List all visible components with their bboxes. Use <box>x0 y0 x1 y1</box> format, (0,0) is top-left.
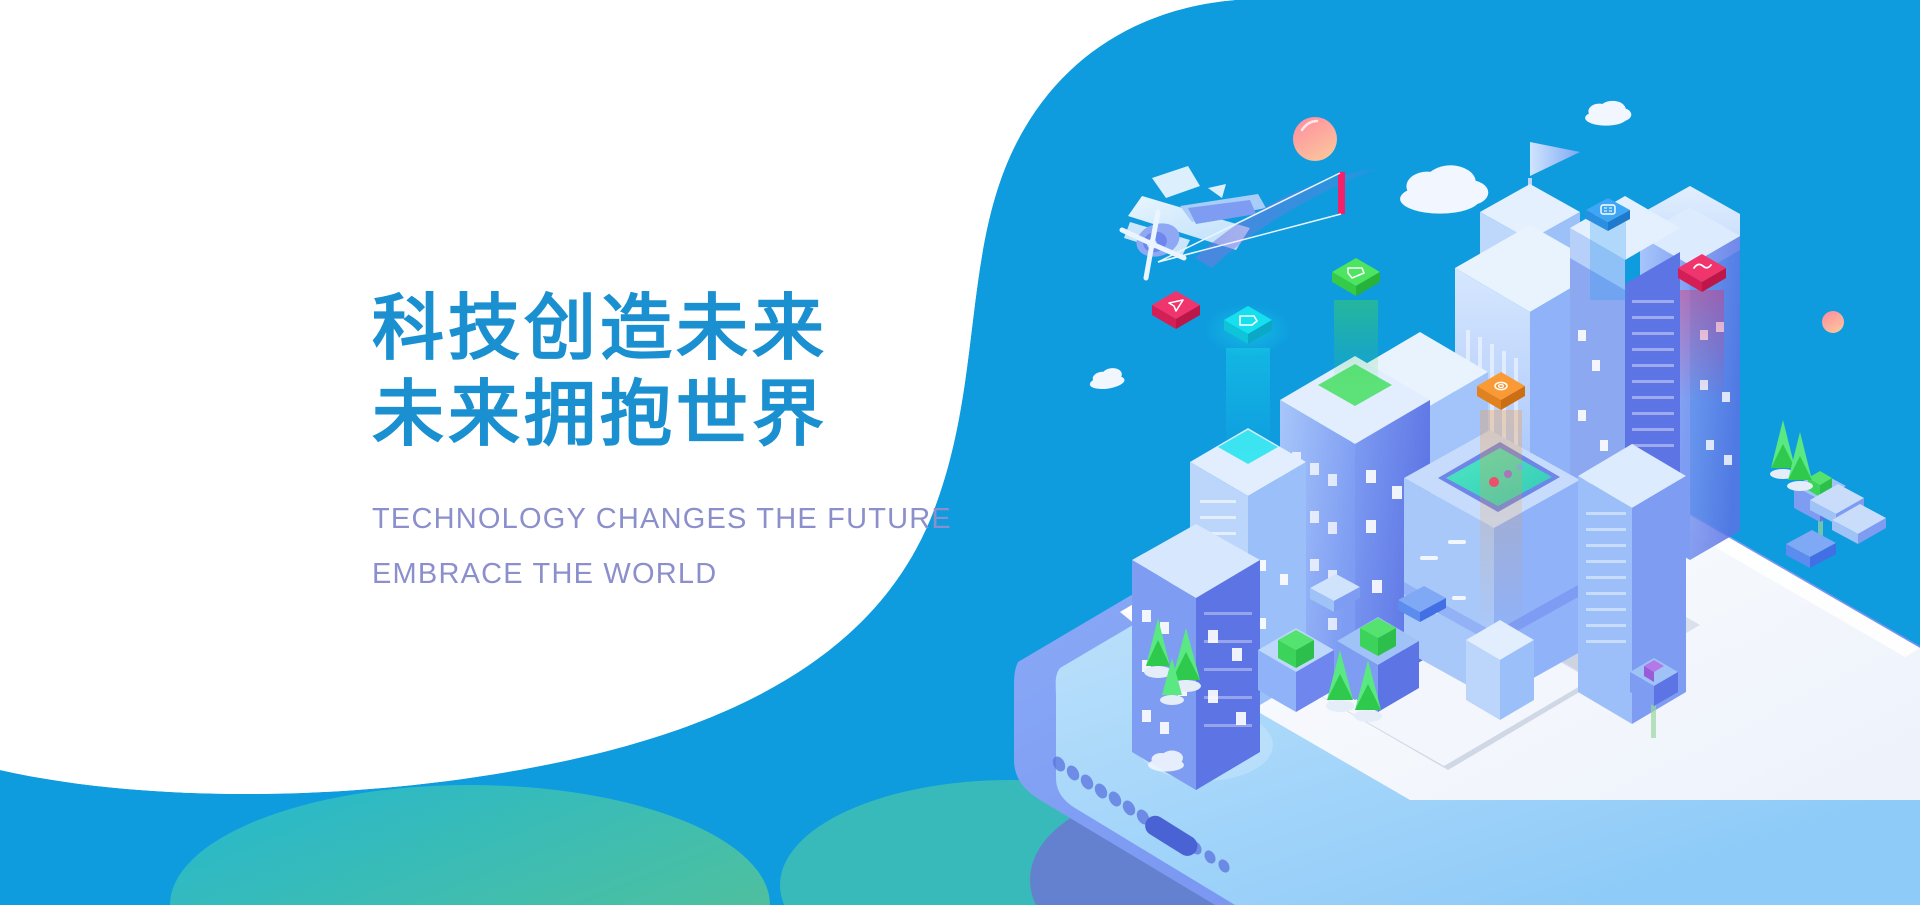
hero-banner: 科技创造未来 未来拥抱世界 TECHNOLOGY CHANGES THE FUT… <box>0 0 1920 905</box>
headline-line-1: 科技创造未来 <box>372 286 1052 372</box>
subtitle-line-1: TECHNOLOGY CHANGES THE FUTURE <box>372 492 1052 547</box>
pink-ball <box>1822 311 1844 333</box>
pink-ball <box>1293 117 1337 161</box>
building-small-orange <box>1466 620 1534 720</box>
beacon-magenta <box>1678 254 1726 400</box>
beacon-green <box>1332 258 1380 392</box>
banner-text-block: 科技创造未来 未来拥抱世界 TECHNOLOGY CHANGES THE FUT… <box>372 286 1052 602</box>
beacon-blue <box>1586 198 1630 300</box>
subtitle-line-2: EMBRACE THE WORLD <box>372 547 1052 602</box>
headline-line-2: 未来拥抱世界 <box>372 372 1052 458</box>
beacon-orange <box>1477 372 1525 632</box>
